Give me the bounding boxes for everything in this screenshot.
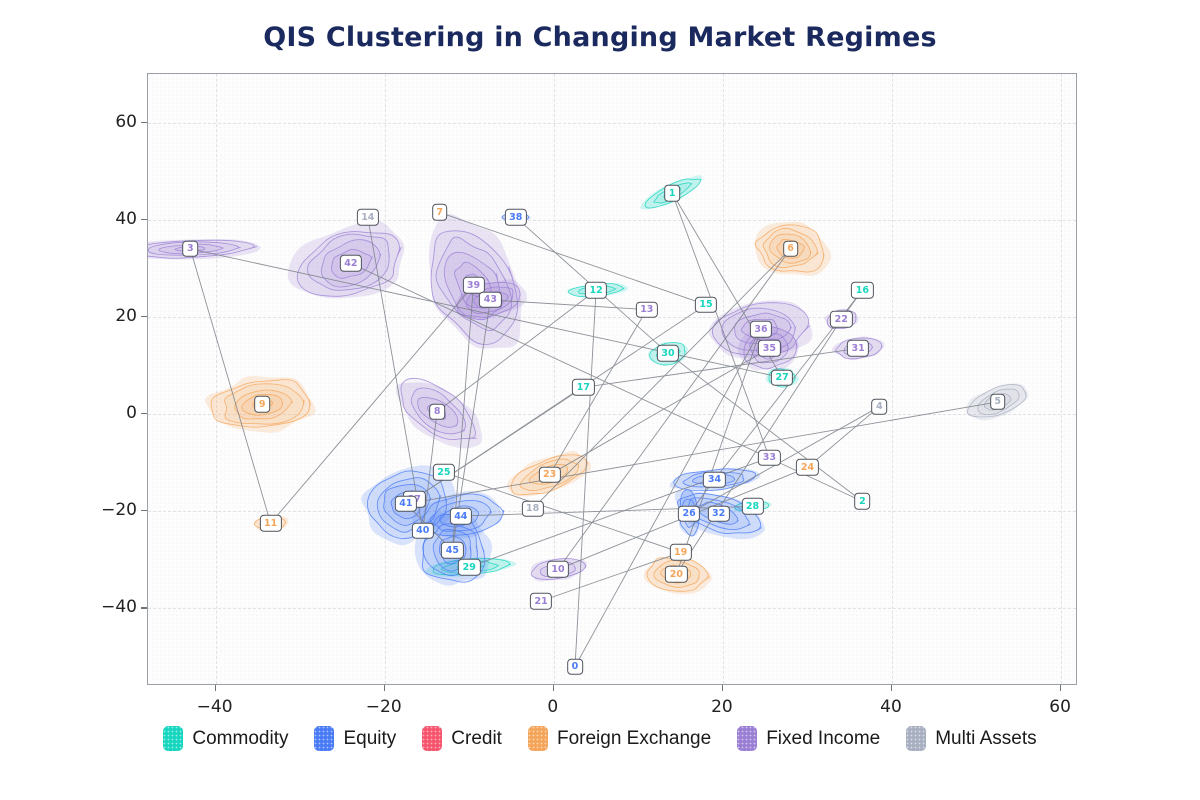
x-axis-tick-mark [384,685,385,691]
data-point-label[interactable]: 23 [538,466,560,483]
legend-label: Multi Assets [935,728,1036,750]
data-point-label[interactable]: 45 [441,542,463,559]
y-axis-tick-label: 40 [89,209,137,229]
data-point-label[interactable]: 25 [433,464,455,481]
y-axis-tick-label: 20 [89,306,137,326]
data-point-label[interactable]: 42 [340,255,362,272]
transition-arrow [689,407,879,514]
legend-label: Fixed Income [766,728,880,750]
plot-area[interactable]: 0123456789101112131415161718192021222324… [147,73,1077,685]
transition-arrow [533,249,791,509]
data-point-label[interactable]: 28 [741,498,763,515]
y-axis-tick-mark [141,219,147,220]
x-axis-tick-label: 40 [880,697,902,717]
y-axis-tick-mark [141,413,147,414]
data-point-label[interactable]: 17 [572,379,594,396]
y-axis-tick-label: 0 [89,403,137,423]
x-axis-tick-mark [1060,685,1061,691]
y-axis-tick-label: 60 [89,112,137,132]
data-point-label[interactable]: 38 [505,209,527,226]
x-axis-tick-mark [215,685,216,691]
legend-swatch-icon [528,726,548,751]
data-point-label[interactable]: 33 [758,449,780,466]
data-point-label[interactable]: 0 [567,658,583,675]
data-point-label[interactable]: 7 [432,204,448,221]
legend-item-credit[interactable]: Credit [422,726,502,751]
data-point-label[interactable]: 8 [429,403,445,420]
data-point-label[interactable]: 1 [664,185,680,202]
data-point-label[interactable]: 26 [678,505,700,522]
x-axis-tick-label: −40 [197,697,233,717]
x-axis-tick-mark [891,685,892,691]
data-point-label[interactable]: 44 [450,508,472,525]
data-point-label[interactable]: 34 [703,471,725,488]
transition-arrow [808,407,880,468]
data-point-label[interactable]: 14 [357,209,379,226]
x-axis-tick-label: −20 [366,697,402,717]
x-axis-tick-mark [722,685,723,691]
transition-arrow [550,310,647,475]
data-point-label[interactable]: 41 [395,496,417,513]
chart-title: QIS Clustering in Changing Market Regime… [0,22,1200,53]
data-point-label[interactable]: 5 [990,394,1006,411]
transition-arrow [190,249,270,523]
legend-label: Credit [451,728,502,750]
legend-label: Equity [343,728,396,750]
transition-arrow [575,290,596,666]
data-point-label[interactable]: 30 [657,345,679,362]
transition-arrow [676,329,761,574]
legend-swatch-icon [422,726,442,751]
y-axis-tick-label: −40 [89,597,137,617]
data-point-label[interactable]: 21 [530,593,552,610]
data-point-label[interactable]: 19 [670,544,692,561]
data-point-label[interactable]: 10 [547,561,569,578]
data-point-label[interactable]: 43 [479,292,501,309]
legend-item-fixed-income[interactable]: Fixed Income [737,726,880,751]
data-point-label[interactable]: 6 [783,241,799,258]
legend-item-foreign-exchange[interactable]: Foreign Exchange [528,726,711,751]
transition-arrow [406,402,998,504]
x-axis-tick-label: 0 [547,697,558,717]
data-point-label[interactable]: 13 [636,301,658,318]
y-axis-tick-mark [141,122,147,123]
data-point-label[interactable]: 3 [182,241,198,258]
data-point-label[interactable]: 20 [665,566,687,583]
transition-arrow [490,300,646,310]
transition-arrow [583,348,858,387]
legend-label: Commodity [192,728,288,750]
data-point-label[interactable]: 31 [847,340,869,357]
data-point-label[interactable]: 9 [254,396,270,413]
data-point-label[interactable]: 2 [855,493,871,510]
data-point-label[interactable]: 22 [830,311,852,328]
data-point-label[interactable]: 24 [796,459,818,476]
data-point-label[interactable]: 4 [872,398,888,415]
x-axis-tick-label: 60 [1049,697,1071,717]
data-point-label[interactable]: 27 [771,369,793,386]
data-point-label[interactable]: 12 [585,282,607,299]
legend-swatch-icon [906,726,926,751]
transition-arrow [368,217,423,530]
legend-label: Foreign Exchange [557,728,711,750]
transition-arrow [444,472,681,552]
legend-swatch-icon [314,726,334,751]
x-axis-tick-label: 20 [711,697,733,717]
legend-item-commodity[interactable]: Commodity [163,726,288,751]
chart-legend: CommodityEquityCreditForeign ExchangeFix… [0,726,1200,751]
chart-figure: QIS Clustering in Changing Market Regime… [0,0,1200,800]
y-axis-tick-mark [141,510,147,511]
y-axis-tick-mark [141,316,147,317]
data-point-label[interactable]: 29 [458,559,480,576]
y-axis-tick-label: −20 [89,500,137,520]
y-axis-tick-mark [141,607,147,608]
data-point-label[interactable]: 32 [708,505,730,522]
transition-arrow-layer [148,74,1077,685]
legend-item-multi-assets[interactable]: Multi Assets [906,726,1036,751]
transition-arrow [676,319,841,574]
data-point-label[interactable]: 35 [758,340,780,357]
data-point-label[interactable]: 15 [695,296,717,313]
data-point-label[interactable]: 36 [750,321,772,338]
legend-item-equity[interactable]: Equity [314,726,396,751]
data-point-label[interactable]: 18 [522,500,544,517]
x-axis-tick-mark [553,685,554,691]
transition-arrow [668,353,862,501]
legend-swatch-icon [737,726,757,751]
data-point-label[interactable]: 40 [412,522,434,539]
legend-swatch-icon [163,726,183,751]
data-point-label[interactable]: 16 [851,282,873,299]
data-point-label[interactable]: 11 [259,515,281,532]
